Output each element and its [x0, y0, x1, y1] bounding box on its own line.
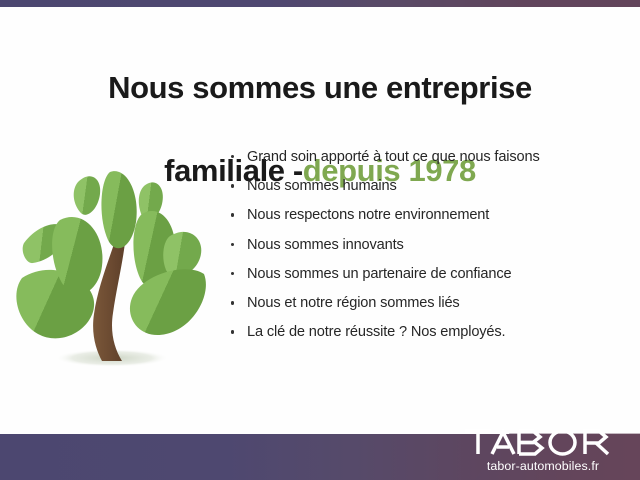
tabor-wordmark-logo	[463, 427, 623, 457]
list-item-label: Nous et notre région sommes liés	[247, 295, 460, 311]
footer-bar: tabor-automobiles.fr	[0, 404, 640, 480]
slide-canvas: Nous sommes une entreprise familiale -de…	[0, 0, 640, 480]
list-item-label: Nous sommes un partenaire de confiance	[247, 266, 511, 282]
values-list: Grand soin apporté à tout ce que nous fa…	[228, 148, 628, 342]
list-item: Nous sommes un partenaire de confiance	[228, 265, 628, 283]
bullet-dot-icon	[231, 184, 234, 187]
bullet-dot-icon	[231, 155, 234, 158]
brand-tagline: tabor-automobiles.fr	[458, 460, 628, 472]
list-item: Nous respectons notre environnement	[228, 206, 628, 224]
list-item: Nous et notre région sommes liés	[228, 294, 628, 312]
list-item: Nous sommes humains	[228, 177, 628, 195]
bullet-dot-icon	[231, 272, 234, 275]
top-accent-bar	[0, 0, 640, 7]
list-item-label: Nous respectons notre environnement	[247, 207, 489, 223]
tree-illustration	[14, 162, 214, 377]
leaf-5	[101, 171, 136, 248]
list-item-label: La clé de notre réussite ? Nos employés.	[247, 324, 505, 340]
list-item: Grand soin apporté à tout ce que nous fa…	[228, 148, 628, 166]
bullet-dot-icon	[231, 243, 234, 246]
bullet-dot-icon	[231, 330, 234, 333]
headline-line-1: Nous sommes une entreprise	[0, 67, 640, 108]
list-item-label: Nous sommes innovants	[247, 237, 404, 253]
list-item: La clé de notre réussite ? Nos employés.	[228, 323, 628, 341]
leaf-4	[74, 176, 100, 215]
bullet-dot-icon	[231, 301, 234, 304]
list-item: Nous sommes innovants	[228, 236, 628, 254]
list-item-label: Nous sommes humains	[247, 178, 397, 194]
bullet-dot-icon	[231, 213, 234, 216]
brand-block: tabor-automobiles.fr	[458, 427, 628, 472]
list-item-label: Grand soin apporté à tout ce que nous fa…	[247, 149, 540, 165]
